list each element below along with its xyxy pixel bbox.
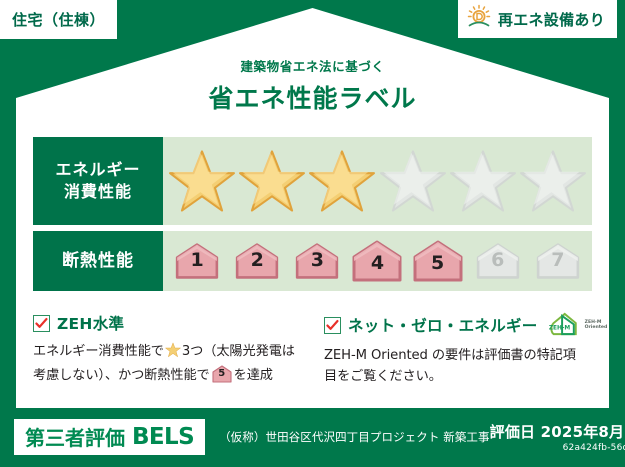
insulation-level-number: 2: [230, 249, 284, 271]
checkmark-icon: [324, 317, 341, 334]
insulation-level-filled: 2: [230, 242, 284, 280]
insulation-level-number: 7: [531, 249, 585, 271]
evaluation-date: 評価日 2025年8月12日: [490, 421, 625, 442]
insulation-level-number: 3: [290, 249, 344, 271]
insulation-level-number: 4: [350, 252, 404, 274]
star-filled: [168, 148, 236, 214]
category-tag-label: 住宅（住棟）: [12, 9, 105, 30]
inline-house-number: 5: [212, 366, 232, 382]
title-main: 省エネ性能ラベル: [0, 79, 625, 115]
renewable-badge-label: 再エネ設備あり: [498, 9, 605, 30]
renewable-energy-badge: 再エネ設備あり: [458, 0, 617, 38]
insulation-level-scale: 1234567: [163, 231, 592, 291]
zehm-logo-caption: ZEH-M Oriented: [585, 320, 608, 331]
note-zeh-body-part1: エネルギー消費性能で: [33, 344, 164, 359]
insulation-level-empty: 7: [531, 242, 585, 280]
insulation-level-filled: 1: [170, 242, 224, 280]
energy-performance-label: 住宅（住棟） 再エネ設備あり 建築物省エネ法に基づく: [0, 0, 625, 467]
bels-logo: 第三者評価 BELS: [14, 419, 205, 455]
insulation-level-filled: 3: [290, 242, 344, 280]
inline-star-icon: [165, 342, 181, 365]
star-empty: [379, 148, 447, 214]
note-net-zero-energy: ネット・ゼロ・エネルギー ZEH-M ZEH-M Oriented ZEH-M …: [314, 312, 595, 388]
bels-logo-en: BELS: [132, 424, 194, 450]
energy-label-line1: エネルギー: [55, 159, 140, 181]
evaluation-block: 評価日 2025年8月12日 62a424fb-56c6-42d1: [490, 421, 625, 453]
zehm-oriented-logo: ZEH-M ZEH-M Oriented: [549, 312, 608, 338]
evaluation-id: 62a424fb-56c6-42d1: [490, 443, 625, 453]
bels-logo-jp: 第三者評価: [25, 422, 125, 451]
star-empty: [449, 148, 517, 214]
note-zeh-body-part4: を達成: [234, 368, 273, 383]
performance-area: エネルギー 消費性能 断熱性能 1234567: [33, 137, 592, 297]
footer: 第三者評価 BELS （仮称）世田谷区代沢四丁目プロジェクト 新築工事 評価日 …: [0, 412, 625, 467]
inline-house-icon: 5: [212, 365, 232, 383]
zehm-caption-line1: ZEH-M: [585, 320, 602, 325]
title-subtitle: 建築物省エネ法に基づく: [0, 56, 625, 75]
notes-section: ZEH水準 エネルギー消費性能で3つ（太陽光発電は考慮しない）、かつ断熱性能で5…: [33, 312, 595, 388]
note-nze-title: ネット・ゼロ・エネルギー: [348, 314, 538, 336]
title-block: 建築物省エネ法に基づく 省エネ性能ラベル: [0, 56, 625, 115]
category-tag: 住宅（住棟）: [0, 0, 117, 39]
energy-star-rating: [163, 137, 592, 225]
insulation-level-empty: 6: [471, 242, 525, 280]
insulation-level-number: 1: [170, 249, 224, 271]
insulation-label-text: 断熱性能: [62, 250, 134, 273]
note-nze-body: ZEH-M Oriented の要件は評価書の特記項目をご覧ください。: [324, 345, 581, 388]
insulation-performance-label: 断熱性能: [33, 231, 163, 291]
insulation-level-filled: 5: [411, 239, 465, 283]
energy-consumption-row: エネルギー 消費性能: [33, 137, 592, 225]
star-empty: [519, 148, 587, 214]
zehm-logo-text: ZEH-M: [549, 326, 570, 332]
note-zeh-standard: ZEH水準 エネルギー消費性能で3つ（太陽光発電は考慮しない）、かつ断熱性能で5…: [33, 312, 314, 388]
note-zeh-body-part2: 3つ（太陽光発電: [182, 344, 282, 359]
checkmark-icon: [33, 315, 50, 332]
insulation-level-number: 5: [411, 252, 465, 274]
note-zeh-body: エネルギー消費性能で3つ（太陽光発電は考慮しない）、かつ断熱性能で5を達成: [33, 341, 300, 387]
project-name: （仮称）世田谷区代沢四丁目プロジェクト 新築工事: [219, 429, 490, 445]
zehm-caption-line2: Oriented: [585, 325, 608, 330]
insulation-performance-row: 断熱性能 1234567: [33, 231, 592, 291]
energy-consumption-label: エネルギー 消費性能: [33, 137, 163, 225]
note-zeh-title: ZEH水準: [57, 312, 124, 334]
note-zeh-header: ZEH水準: [33, 312, 300, 334]
note-nze-header: ネット・ゼロ・エネルギー ZEH-M ZEH-M Oriented: [324, 312, 581, 338]
star-filled: [238, 148, 306, 214]
solar-sun-icon: [466, 4, 492, 34]
insulation-level-number: 6: [471, 249, 525, 271]
insulation-level-filled: 4: [350, 239, 404, 283]
star-filled: [308, 148, 376, 214]
energy-label-line2: 消費性能: [64, 181, 132, 203]
